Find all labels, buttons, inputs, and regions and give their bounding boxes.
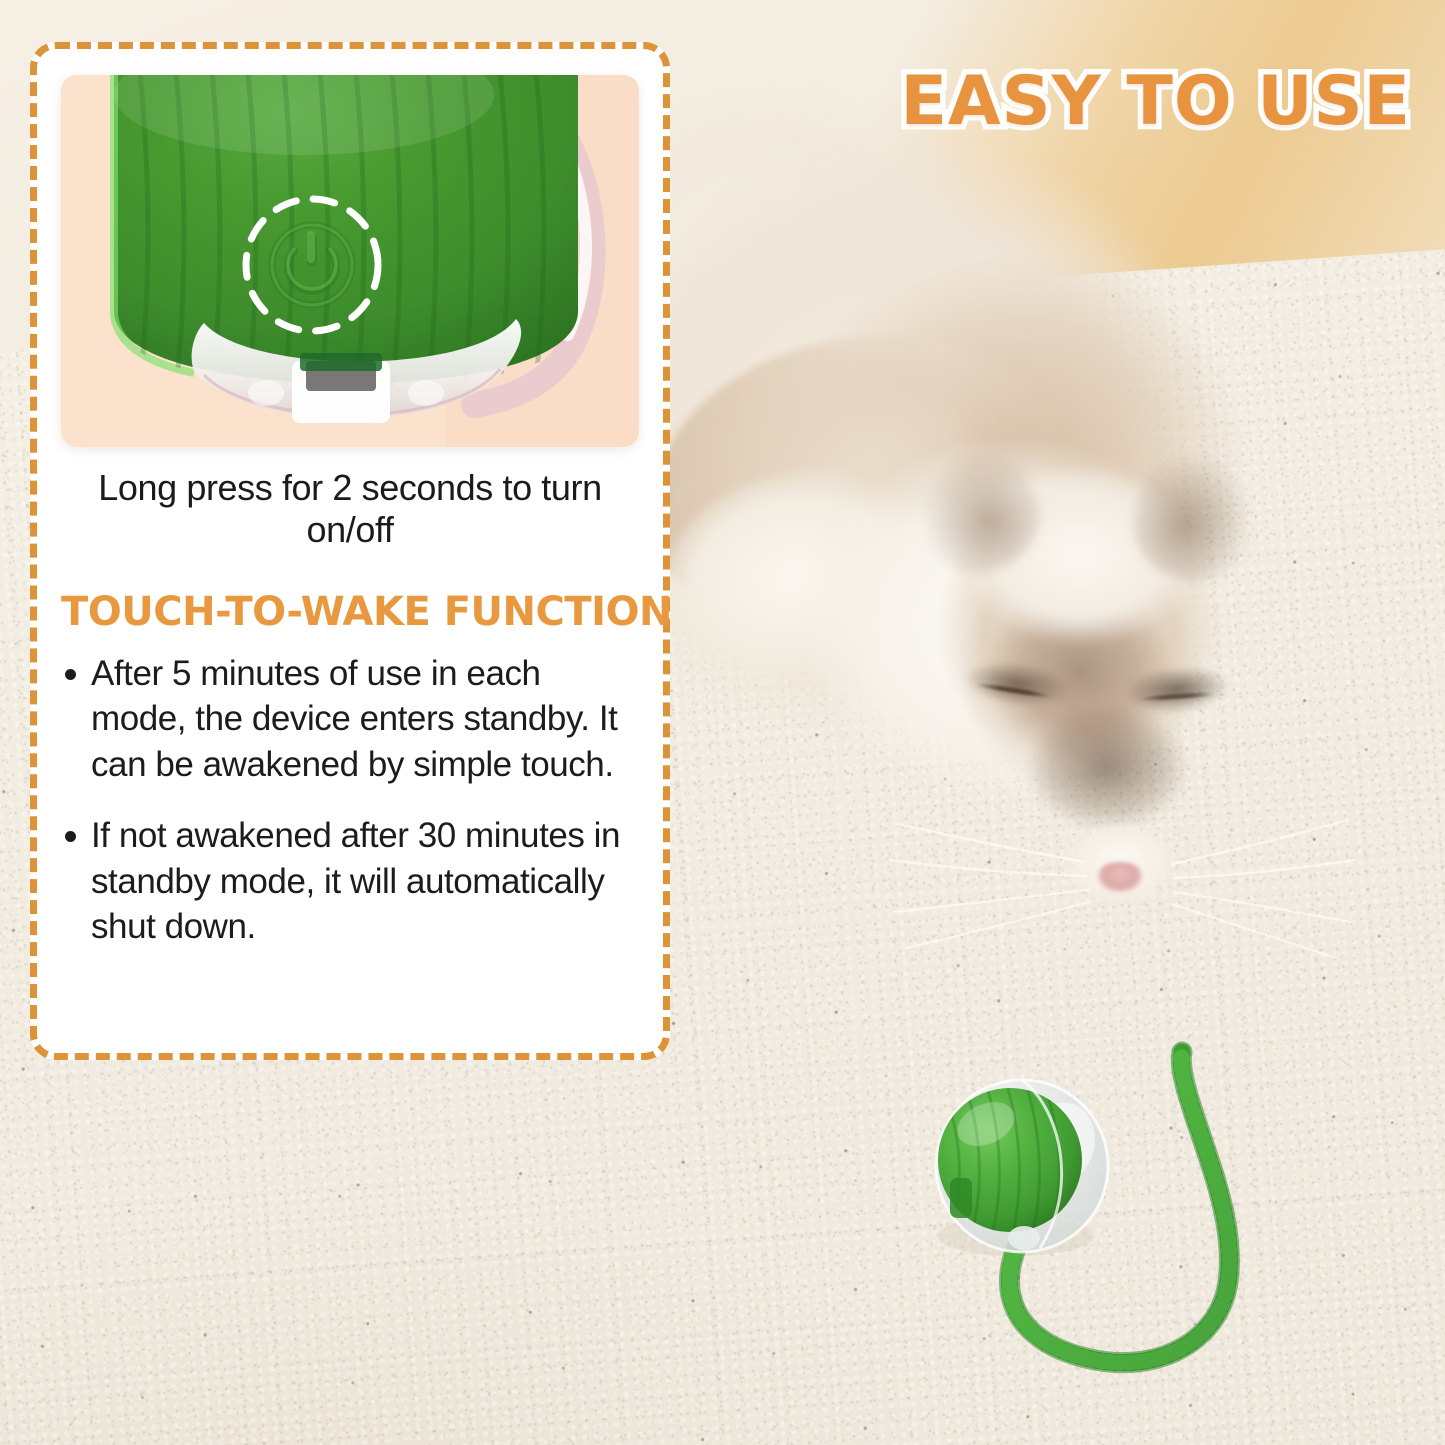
list-item: If not awakened after 30 minutes in stan…	[61, 813, 639, 950]
cat-toy-ball	[890, 1040, 1310, 1440]
list-item: After 5 minutes of use in each mode, the…	[61, 651, 639, 788]
cat-whiskers	[880, 790, 1360, 980]
bullet-dot-icon	[65, 831, 76, 842]
bullet-text: If not awakened after 30 minutes in stan…	[91, 816, 620, 946]
page-title: EASY TO USE	[901, 62, 1411, 141]
product-closeup-image	[61, 75, 639, 447]
inset-caption: Long press for 2 seconds to turn on/off	[61, 467, 639, 551]
bullet-text: After 5 minutes of use in each mode, the…	[91, 654, 617, 784]
info-panel: Long press for 2 seconds to turn on/off …	[30, 42, 670, 1060]
feature-bullet-list: After 5 minutes of use in each mode, the…	[61, 651, 639, 950]
section-title: TOUCH-TO-WAKE FUNCTION	[61, 589, 639, 635]
infographic-canvas: EASY TO USE	[0, 0, 1445, 1445]
bullet-dot-icon	[65, 669, 76, 680]
